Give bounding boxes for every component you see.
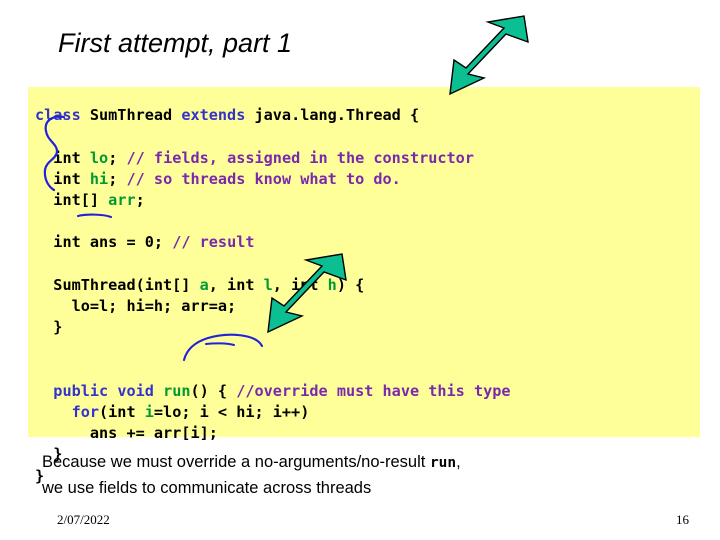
- page-title: First attempt, part 1: [58, 28, 292, 59]
- caption-line-1-suffix: ,: [456, 453, 461, 471]
- caption-run-token: run: [430, 455, 456, 471]
- slide: First attempt, part 1 class SumThread ex…: [0, 0, 720, 540]
- caption-text: Because we must override a no-arguments/…: [42, 450, 682, 501]
- caption-line-1-prefix: Because we must override a no-arguments/…: [42, 453, 430, 471]
- caption-line-2: we use fields to communicate across thre…: [42, 476, 682, 501]
- footer-date: 2/07/2022: [57, 512, 110, 528]
- code-listing: class SumThread extends java.lang.Thread…: [35, 105, 511, 487]
- caption-line-1: Because we must override a no-arguments/…: [42, 450, 682, 476]
- footer-page-number: 16: [676, 512, 689, 528]
- code-block: class SumThread extends java.lang.Thread…: [28, 87, 700, 437]
- arrow-to-thread-superclass: [434, 12, 530, 98]
